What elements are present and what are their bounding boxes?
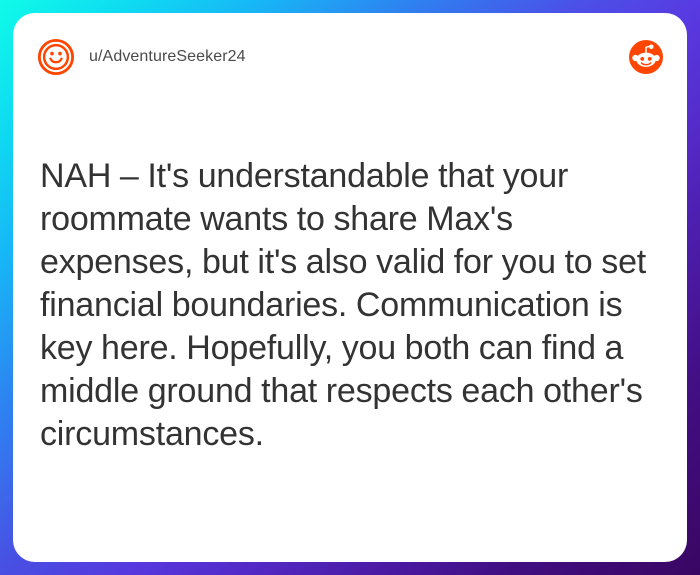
username-label: u/AdventureSeeker24 <box>89 48 246 66</box>
comment-header: u/AdventureSeeker24 <box>13 13 687 101</box>
reddit-snoo-icon <box>629 40 663 74</box>
comment-card: u/AdventureSeeker24 NAH – I <box>13 13 687 562</box>
smiley-face-avatar-icon <box>37 38 75 76</box>
avatar[interactable] <box>37 38 75 76</box>
comment-text: NAH – It's understandable that your room… <box>40 155 665 456</box>
reddit-logo-button[interactable] <box>629 40 663 74</box>
